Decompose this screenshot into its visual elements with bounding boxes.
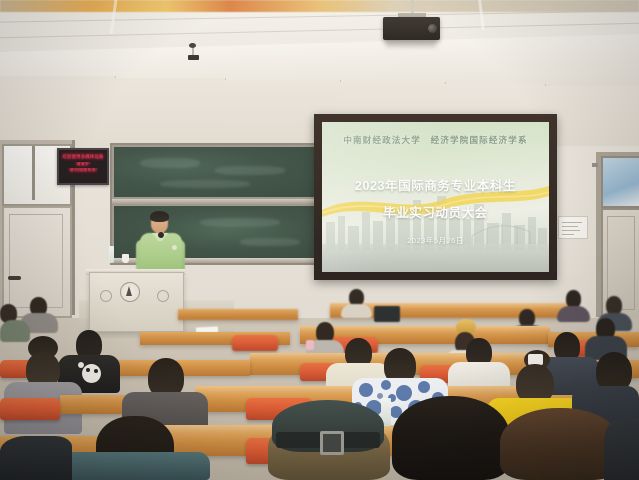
led-line-1: 欢迎使用多媒体设备 — [59, 150, 107, 162]
wall-panel — [545, 86, 639, 146]
door-left-mullion — [32, 146, 35, 200]
light-switch[interactable] — [592, 163, 598, 167]
chalk-smudge — [160, 180, 250, 188]
screen-glare — [322, 122, 549, 272]
cap-buckle-icon — [320, 431, 344, 455]
wall-panel — [0, 76, 116, 146]
chalk-smudge — [240, 238, 300, 246]
chalk-smudge — [215, 166, 285, 175]
laptop-or-monitor — [374, 306, 400, 322]
seat-back — [232, 335, 278, 351]
led-display-sign: 欢迎使用多媒体设备 请爱护 请勿随意拆卸 — [57, 148, 109, 185]
led-line-2: 请爱护 — [59, 162, 107, 169]
seat-back — [0, 398, 60, 420]
door-left-inset — [9, 214, 63, 308]
foreground-shoulder — [604, 418, 639, 480]
foreground-shoulder-left — [0, 436, 72, 480]
podium-ring-right — [157, 290, 169, 302]
microphone-head-icon — [158, 232, 164, 238]
podium-ring-left — [100, 290, 112, 302]
desk-row-far-left — [178, 309, 298, 320]
projector-lens-icon — [428, 24, 437, 33]
cup — [122, 254, 129, 263]
chalk-smudge — [140, 158, 200, 168]
presenter-hair — [150, 211, 169, 222]
presenter-shirt-logo — [172, 245, 177, 250]
projection-screen-surface: 中南财经政法大学 经济学院国际经济学系 2023年国际商务专业本科生 毕业实习动… — [322, 122, 549, 272]
water-bottle — [109, 246, 114, 263]
door-right-window — [601, 156, 639, 208]
desk-top-2 — [300, 326, 550, 331]
chalk-smudge — [200, 218, 280, 227]
foreground-dark-hair — [392, 396, 510, 480]
led-line-3: 请勿随意拆卸 — [59, 168, 107, 175]
pink-accessory — [306, 340, 314, 350]
podium — [89, 272, 184, 332]
ceiling-light-strip — [0, 0, 639, 12]
foreground-brown-hair — [500, 408, 620, 480]
projector-mount-rod — [411, 0, 414, 14]
projector-shadow — [386, 40, 436, 47]
wall-panel — [115, 78, 226, 146]
lecture-hall-photo: 欢迎使用多媒体设备 请爱护 请勿随意拆卸 — [0, 0, 639, 480]
blackboard-rail — [112, 199, 321, 205]
camera-head-icon — [189, 43, 196, 48]
wall-notice-plate — [558, 216, 588, 239]
door-left-handle[interactable] — [8, 276, 21, 280]
wall-camera — [188, 55, 199, 60]
